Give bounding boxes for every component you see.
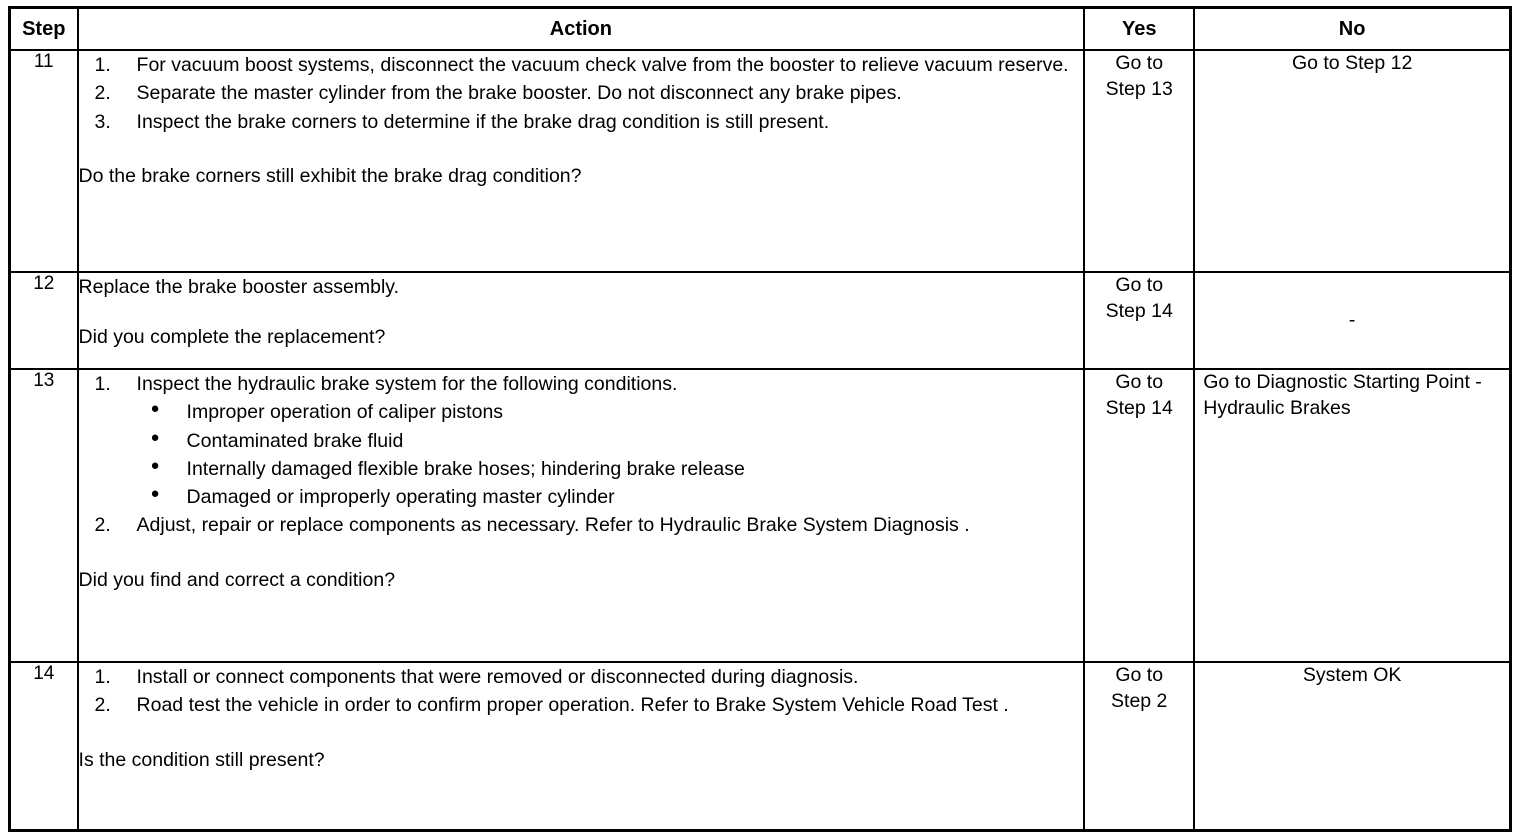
action-question: Did you find and correct a condition? [79, 566, 1084, 594]
list-item: 2. Adjust, repair or replace components … [79, 511, 1084, 539]
numbered-step-list: 1. Inspect the hydraulic brake system fo… [79, 370, 1084, 540]
action-question: Did you complete the replacement? [79, 323, 1084, 351]
list-item-text: Damaged or improperly operating master c… [187, 486, 615, 508]
list-item-text: Inspect the hydraulic brake system for t… [137, 373, 678, 395]
column-header-no: No [1194, 8, 1510, 51]
yes-cell: Go to Step 13 [1084, 50, 1194, 272]
no-cell: Go to Step 12 [1194, 50, 1510, 272]
yes-cell: Go to Step 2 [1084, 662, 1194, 830]
table-header: Step Action Yes No [10, 8, 1511, 51]
list-item: ● Internally damaged flexible brake hose… [137, 455, 1084, 483]
list-item: ● Improper operation of caliper pistons [137, 398, 1084, 426]
column-header-step: Step [10, 8, 78, 51]
no-cell: Go to Diagnostic Starting Point - Hydrau… [1194, 369, 1510, 662]
list-marker: 1. [95, 51, 129, 79]
list-item: ● Damaged or improperly operating master… [137, 483, 1084, 511]
numbered-step-list: 1. Install or connect components that we… [79, 663, 1084, 720]
table-row: 13 1. Inspect the hydraulic brake system… [10, 369, 1511, 662]
list-item-text: Road test the vehicle in order to confir… [137, 694, 1009, 716]
bullet-icon: ● [151, 427, 160, 449]
bullet-icon: ● [151, 398, 160, 420]
numbered-step-list: 1. For vacuum boost systems, disconnect … [79, 51, 1084, 136]
list-item: 2. Road test the vehicle in order to con… [79, 691, 1084, 719]
list-item-text: Inspect the brake corners to determine i… [137, 111, 830, 133]
table-row: 11 1. For vacuum boost systems, disconne… [10, 50, 1511, 272]
header-row: Step Action Yes No [10, 8, 1511, 51]
table-body: 11 1. For vacuum boost systems, disconne… [10, 50, 1511, 830]
table-row: 14 1. Install or connect components that… [10, 662, 1511, 830]
list-item: ● Contaminated brake fluid [137, 427, 1084, 455]
list-marker: 2. [95, 511, 129, 539]
table-row: 12 Replace the brake booster assembly. D… [10, 272, 1511, 369]
bullet-list: ● Improper operation of caliper pistons … [137, 398, 1084, 511]
action-cell: 1. For vacuum boost systems, disconnect … [78, 50, 1085, 272]
list-marker: 2. [95, 691, 129, 719]
bullet-icon: ● [151, 455, 160, 477]
list-item-text: Improper operation of caliper pistons [187, 401, 504, 423]
action-cell: Replace the brake booster assembly. Did … [78, 272, 1085, 369]
list-item-text: Contaminated brake fluid [187, 430, 404, 452]
action-question: Do the brake corners still exhibit the b… [79, 162, 1084, 190]
list-item: 2. Separate the master cylinder from the… [79, 79, 1084, 107]
yes-cell: Go to Step 14 [1084, 272, 1194, 369]
paragraph-spacer [79, 540, 1084, 566]
no-cell: System OK [1194, 662, 1510, 830]
paragraph-spacer [79, 136, 1084, 162]
list-item: 3. Inspect the brake corners to determin… [79, 108, 1084, 136]
column-header-yes: Yes [1084, 8, 1194, 51]
list-marker: 2. [95, 79, 129, 107]
bullet-icon: ● [151, 483, 160, 505]
diagnostic-table-sheet: Step Action Yes No 11 1. For vacuum boos… [0, 0, 1520, 828]
action-cell: 1. Install or connect components that we… [78, 662, 1085, 830]
column-header-action: Action [78, 8, 1085, 51]
paragraph-spacer [79, 301, 1084, 323]
yes-cell: Go to Step 14 [1084, 369, 1194, 662]
step-number-cell: 13 [10, 369, 78, 662]
diagnostic-procedure-table: Step Action Yes No 11 1. For vacuum boos… [8, 6, 1512, 832]
list-item: 1. Install or connect components that we… [79, 663, 1084, 691]
list-item-text: For vacuum boost systems, disconnect the… [137, 54, 1069, 76]
step-number-cell: 11 [10, 50, 78, 272]
list-marker: 1. [95, 370, 129, 398]
list-marker: 3. [95, 108, 129, 136]
list-item: 1. Inspect the hydraulic brake system fo… [79, 370, 1084, 511]
list-item-text: Adjust, repair or replace components as … [137, 514, 970, 536]
step-number-cell: 14 [10, 662, 78, 830]
list-item: 1. For vacuum boost systems, disconnect … [79, 51, 1084, 79]
list-item-text: Separate the master cylinder from the br… [137, 82, 902, 104]
action-question: Is the condition still present? [79, 746, 1084, 774]
step-number-cell: 12 [10, 272, 78, 369]
list-item-text: Install or connect components that were … [137, 666, 859, 688]
list-marker: 1. [95, 663, 129, 691]
no-cell: - [1194, 272, 1510, 369]
list-item-text: Internally damaged flexible brake hoses;… [187, 458, 745, 480]
action-statement: Replace the brake booster assembly. [79, 273, 1084, 301]
action-cell: 1. Inspect the hydraulic brake system fo… [78, 369, 1085, 662]
paragraph-spacer [79, 720, 1084, 746]
